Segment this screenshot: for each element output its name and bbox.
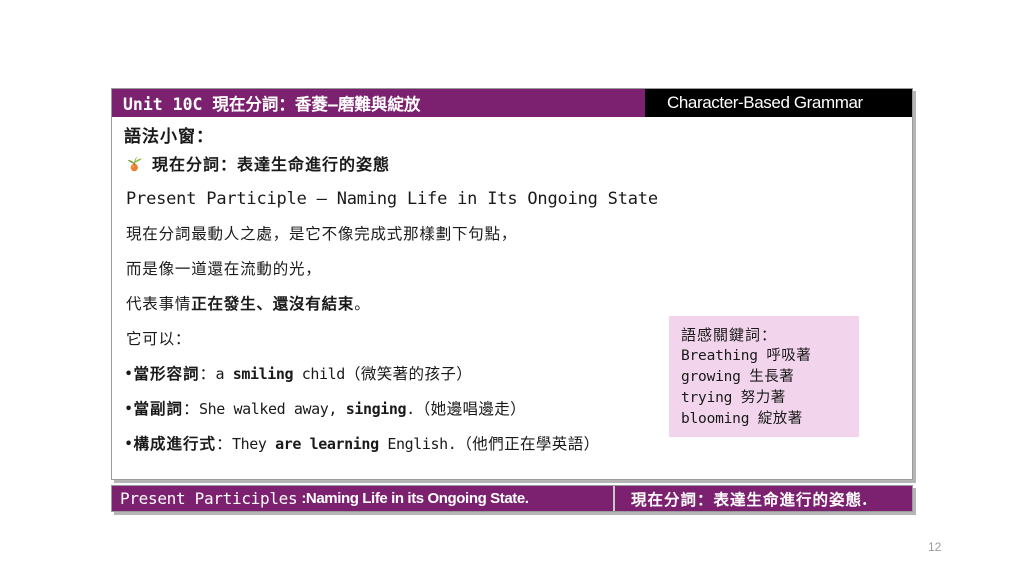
bullet-gloss: （微笑著的孩子） xyxy=(345,365,472,383)
keyword-en: growing xyxy=(681,369,741,385)
section-label: 語法小窗： xyxy=(124,127,912,148)
bullet-label: 構成進行式 xyxy=(134,434,217,453)
keyword-en: blooming xyxy=(681,411,749,427)
paragraph-text: 它可以： xyxy=(126,330,191,348)
paragraph-emphasis: 正在發生、還沒有結束 xyxy=(191,294,354,313)
subtitle-text: 現在分詞：表達生命進行的姿態 xyxy=(152,151,390,175)
bullet-label: 當副詞 xyxy=(134,399,184,418)
footer-left-section: Present Participles :Naming Life in its … xyxy=(112,486,615,511)
keyword-item: blooming 綻放著 xyxy=(681,409,859,430)
bullet-example-key: singing xyxy=(346,400,406,418)
slide-body: 語法小窗： 現在分詞：表達生命進行的姿態 Present Participle … xyxy=(112,117,912,479)
slide-title-left: Unit 10C 現在分詞：香菱—磨難與綻放 xyxy=(112,89,645,117)
page-number: 12 xyxy=(928,540,941,554)
bullet-example-pre: a xyxy=(215,365,232,383)
bullet-colon: ： xyxy=(216,435,232,453)
slide-title-right-banner: Character-Based Grammar xyxy=(645,89,912,117)
footer-right-section: 現在分詞：表達生命進行的姿態. xyxy=(615,488,912,510)
keyword-zh: 努力著 xyxy=(741,390,786,406)
footer-term: Present Participles xyxy=(120,489,297,508)
paragraph-text: 。 xyxy=(354,295,370,313)
keyword-en: Breathing xyxy=(681,348,758,364)
footer-translation: 現在分詞：表達生命進行的姿態. xyxy=(631,488,868,510)
course-label: Character-Based Grammar xyxy=(667,93,863,113)
slide-title-text: Unit 10C 現在分詞：香菱—磨難與綻放 xyxy=(123,91,420,115)
subtitle-row: 現在分詞：表達生命進行的姿態 xyxy=(124,151,912,175)
paragraph-text: 而是像一道還在流動的光， xyxy=(126,260,322,278)
bullet-example-post: . xyxy=(406,400,415,418)
bullet-gloss: （他們正在學英語） xyxy=(456,435,599,453)
keyword-box-title: 語感關鍵詞： xyxy=(681,325,859,346)
body-paragraph: 現在分詞最動人之處，是它不像完成式那樣劃下句點， xyxy=(126,222,912,244)
keyword-item: Breathing 呼吸著 xyxy=(681,346,859,367)
slide-footer-bar: Present Participles :Naming Life in its … xyxy=(111,485,913,512)
slide-title-bar: Unit 10C 現在分詞：香菱—磨難與綻放 Character-Based G… xyxy=(112,89,912,117)
keyword-item: growing 生長著 xyxy=(681,367,859,388)
bullet-gloss: （她邊唱邊走） xyxy=(415,400,526,418)
keyword-zh: 綻放著 xyxy=(758,411,803,427)
bullet-label: 當形容詞 xyxy=(134,364,200,383)
bullet-example-post: child xyxy=(293,365,345,383)
keyword-callout-box: 語感關鍵詞： Breathing 呼吸著 growing 生長著 trying … xyxy=(669,316,859,437)
bullet-example-key: smiling xyxy=(233,365,293,383)
keyword-zh: 呼吸著 xyxy=(766,348,811,364)
bullet-example-pre: She walked away, xyxy=(199,400,346,418)
slide-frame: Unit 10C 現在分詞：香菱—磨難與綻放 Character-Based G… xyxy=(111,88,913,480)
bullet-example-key: are learning xyxy=(275,435,379,453)
english-heading: Present Participle — Naming Life in Its … xyxy=(126,189,912,209)
keyword-zh: 生長著 xyxy=(749,369,794,385)
paragraph-text: 代表事情 xyxy=(126,295,191,313)
keyword-item: trying 努力著 xyxy=(681,388,859,409)
bullet-colon: ： xyxy=(200,365,216,383)
bullet-example-post: English. xyxy=(379,435,457,453)
bullet-example-pre: They xyxy=(232,435,275,453)
bullet-marker: • xyxy=(124,435,134,453)
bullet-marker: • xyxy=(124,400,134,418)
body-paragraph: 代表事情正在發生、還沒有結束。 xyxy=(126,292,912,314)
sprout-icon xyxy=(124,153,145,174)
footer-definition: :Naming Life in its Ongoing State. xyxy=(301,490,528,507)
bullet-marker: • xyxy=(124,365,134,383)
paragraph-text: 現在分詞最動人之處，是它不像完成式那樣劃下句點， xyxy=(126,225,517,243)
keyword-en: trying xyxy=(681,390,732,406)
bullet-colon: ： xyxy=(183,400,199,418)
body-paragraph: 而是像一道還在流動的光， xyxy=(126,257,912,279)
